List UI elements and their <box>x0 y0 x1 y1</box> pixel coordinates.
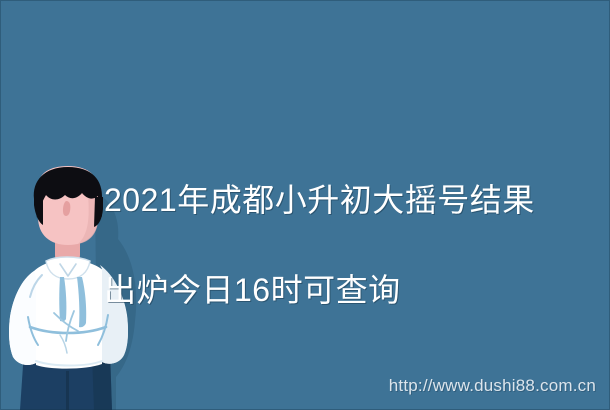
headline: 2021年成都小升初大摇号结果 出炉今日16时可查询 <box>104 133 564 358</box>
watermark-url: http://www.dushi88.com.cn <box>389 376 596 396</box>
headline-line-1: 2021年成都小升初大摇号结果 <box>104 178 564 223</box>
headline-line-2: 出炉今日16时可查询 <box>104 268 564 313</box>
news-banner: 2021年成都小升初大摇号结果 出炉今日16时可查询 http://www.du… <box>0 0 610 410</box>
